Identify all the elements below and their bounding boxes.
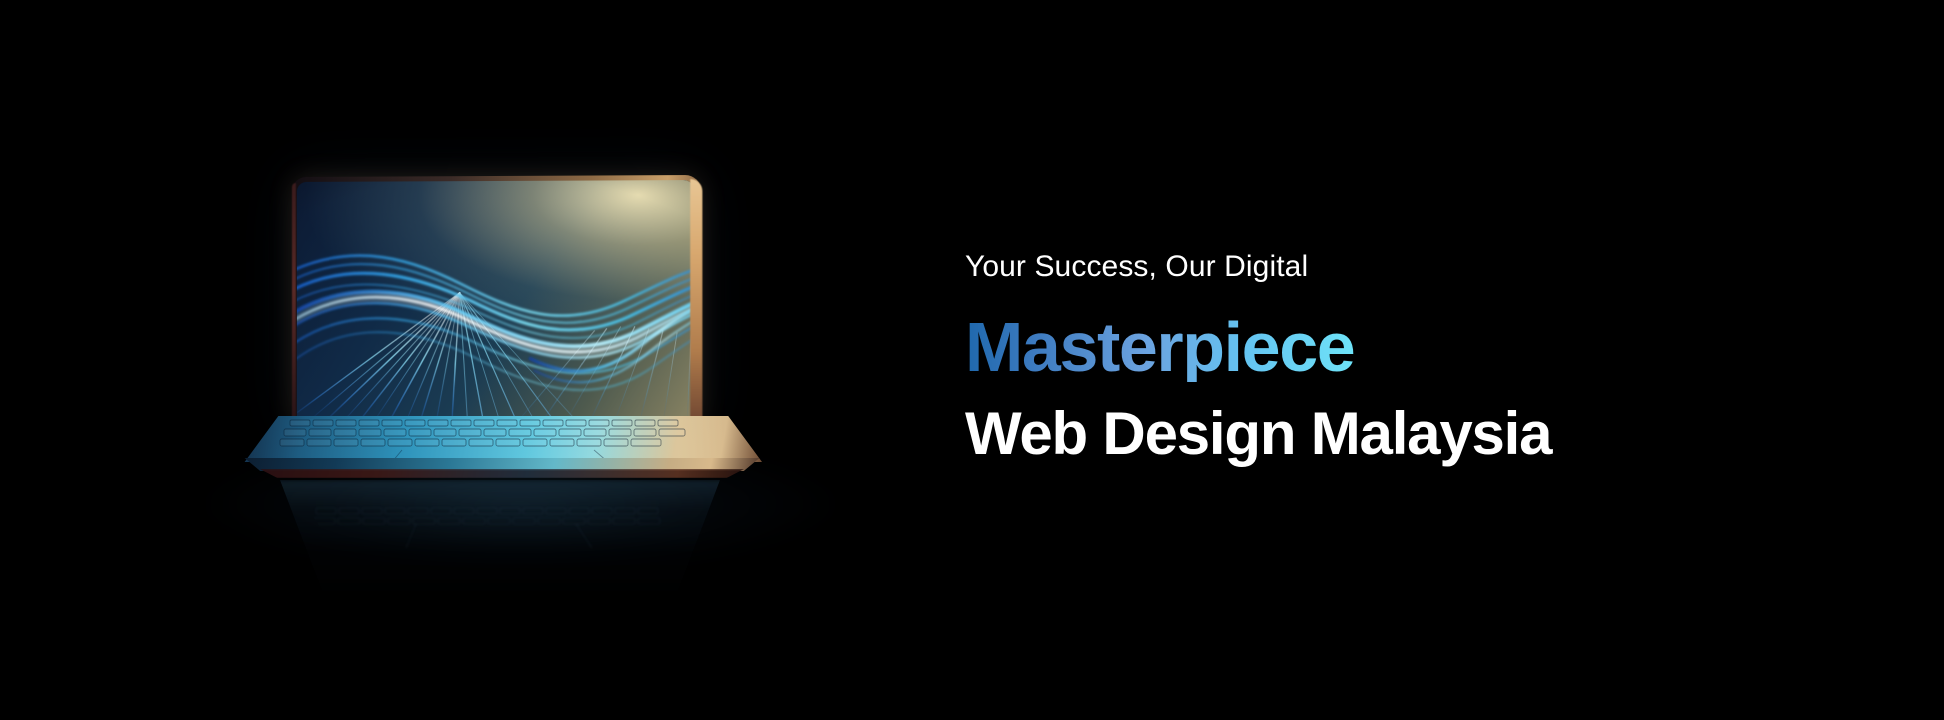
hero-copy: Your Success, Our Digital Masterpiece We… [965, 252, 1725, 464]
screen-wave-ribbons-svg [297, 180, 695, 421]
reflection-keys-svg [276, 494, 726, 556]
hero-headline: Masterpiece [965, 312, 1354, 382]
laptop-base [242, 416, 762, 478]
laptop-illustration [236, 150, 876, 570]
laptop-base-underside [252, 469, 751, 478]
hero-banner: Your Success, Our Digital Masterpiece We… [0, 0, 1944, 720]
laptop-screen [297, 180, 695, 423]
keyboard-keys [242, 416, 762, 462]
laptop-lid [292, 175, 701, 427]
keyboard-keys-svg [242, 416, 762, 462]
laptop-reflection-keys [276, 494, 726, 556]
hero-eyebrow: Your Success, Our Digital [965, 252, 1725, 282]
hero-subline: Web Design Malaysia [965, 404, 1725, 464]
